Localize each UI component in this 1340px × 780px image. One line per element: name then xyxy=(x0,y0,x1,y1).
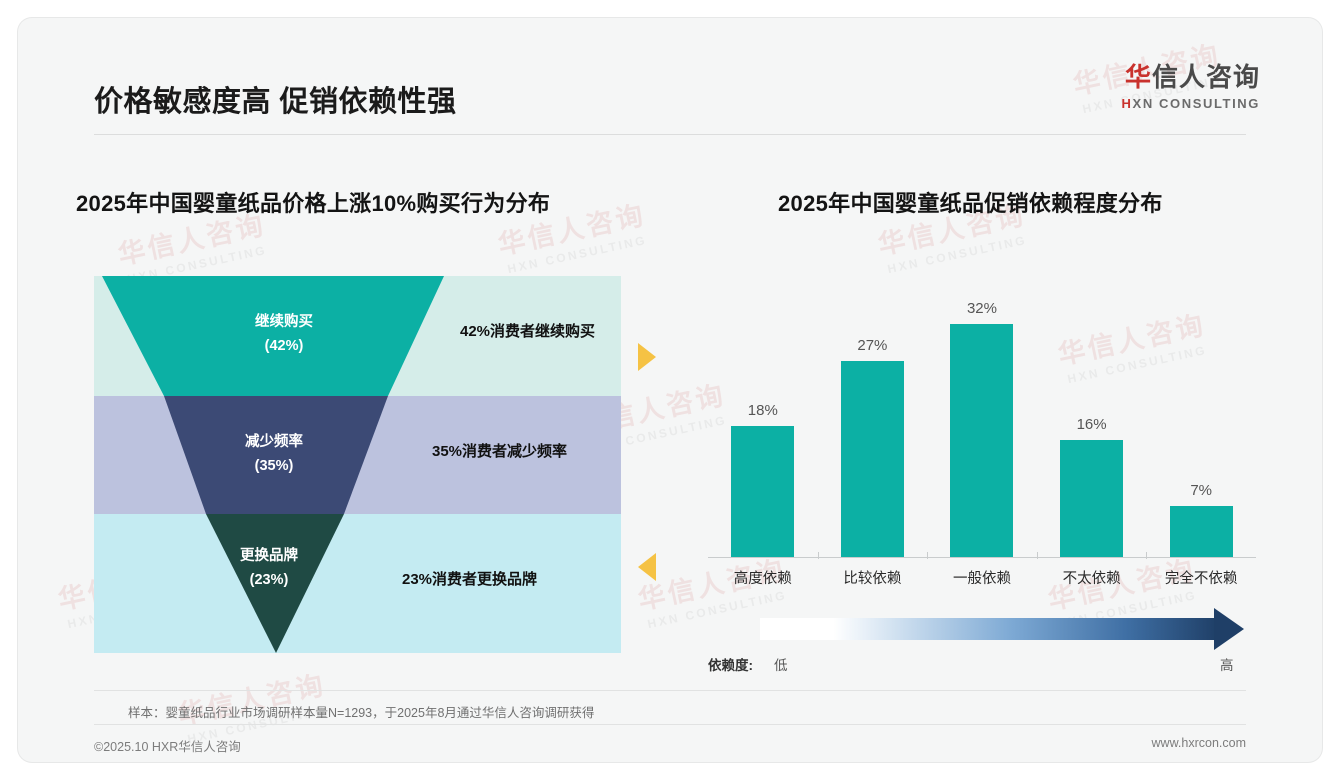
bar-item: 27% xyxy=(818,337,928,557)
copyright-text: ©2025.10 HXR华信人咨询 xyxy=(94,736,241,755)
logo-en-accent: H xyxy=(1122,96,1133,111)
header-divider xyxy=(94,134,1246,135)
slide-header: 价格敏感度高 促销依赖性强 华信人咨询 HXN CONSULTING xyxy=(18,18,1322,122)
bar-value-label: 18% xyxy=(748,402,778,419)
sample-note: 样本：婴童纸品行业市场调研样本量N=1293，于2025年8月通过华信人咨询调研… xyxy=(128,702,594,721)
legend-high-label: 高 xyxy=(1220,654,1234,674)
brand-logo: 华信人咨询 HXN CONSULTING xyxy=(1122,64,1260,111)
x-axis-tick xyxy=(818,552,819,559)
bar-rect xyxy=(731,426,794,557)
x-axis-label: 高度依赖 xyxy=(708,567,818,588)
bar-value-label: 16% xyxy=(1077,416,1107,433)
footer-divider xyxy=(94,724,1246,725)
bar-rect xyxy=(1170,506,1233,557)
x-axis-line xyxy=(708,557,1256,558)
x-axis-label: 不太依赖 xyxy=(1037,567,1147,588)
funnel-segment-1 xyxy=(102,276,444,396)
x-axis-tick xyxy=(1037,552,1038,559)
bar-value-label: 7% xyxy=(1190,482,1212,499)
funnel-annotation-1: 42%消费者继续购买 xyxy=(460,320,595,341)
dependency-gradient-legend: 依赖度: 低 高 xyxy=(708,610,1268,674)
x-axis-tick xyxy=(927,552,928,559)
bar-rect xyxy=(841,361,904,557)
triangle-right-icon xyxy=(638,343,656,371)
watermark-en: HXN CONSULTING xyxy=(886,232,1032,276)
bar-value-label: 27% xyxy=(857,337,887,354)
logo-chinese: 华信人咨询 xyxy=(1122,64,1260,90)
x-axis-labels: 高度依赖 比较依赖 一般依赖 不太依赖 完全不依赖 xyxy=(708,567,1256,588)
funnel-segment-2 xyxy=(164,396,388,514)
bar-item: 7% xyxy=(1146,482,1256,557)
logo-cn-accent: 华 xyxy=(1125,62,1152,92)
logo-cn-rest: 信人咨询 xyxy=(1152,62,1260,92)
funnel-label-2-line1: 减少频率 xyxy=(245,432,303,450)
bar-value-label: 32% xyxy=(967,300,997,317)
x-axis-label: 完全不依赖 xyxy=(1146,567,1256,588)
watermark-cn: 华信人咨询 xyxy=(115,210,268,271)
bar-rect xyxy=(1060,440,1123,557)
triangle-left-icon xyxy=(638,553,656,581)
funnel-chart: 继续购买 (42%) 减少频率 (35%) 更换品牌 (23%) 42%消费者继… xyxy=(94,268,634,668)
funnel-label-1-line2: (42%) xyxy=(265,338,304,354)
funnel-label-3-line2: (23%) xyxy=(250,572,289,588)
x-axis-tick xyxy=(1146,552,1147,559)
funnel-label-3-line1: 更换品牌 xyxy=(240,546,298,564)
x-axis-label: 一般依赖 xyxy=(927,567,1037,588)
gradient-bar xyxy=(760,618,1218,640)
legend-title: 依赖度: xyxy=(708,654,753,674)
left-chart-title: 2025年中国婴童纸品价格上涨10%购买行为分布 xyxy=(76,186,550,218)
legend-low-label: 低 xyxy=(774,654,788,674)
right-chart-title: 2025年中国婴童纸品促销依赖程度分布 xyxy=(778,186,1163,218)
note-divider xyxy=(94,690,1246,691)
funnel-annotation-3: 23%消费者更换品牌 xyxy=(402,568,537,589)
arrow-right-icon xyxy=(1214,608,1244,650)
funnel-label-2-line2: (35%) xyxy=(255,458,294,474)
bar-rect xyxy=(950,324,1013,557)
watermark-cn: 华信人咨询 xyxy=(175,670,328,731)
logo-english: HXN CONSULTING xyxy=(1122,96,1260,111)
slide: 华信人咨询 HXN CONSULTING 华信人咨询 HXN CONSULTIN… xyxy=(18,18,1322,762)
bar-item: 16% xyxy=(1037,416,1147,557)
bar-item: 18% xyxy=(708,402,818,557)
funnel-label-1-line1: 继续购买 xyxy=(255,312,313,330)
website-link[interactable]: www.hxrcon.com xyxy=(1152,736,1246,750)
bar-chart: 18% 27% 32% 16% 7% xyxy=(708,276,1268,588)
logo-en-rest: XN CONSULTING xyxy=(1133,96,1260,111)
bar-series: 18% 27% 32% 16% 7% xyxy=(708,295,1256,557)
bar-item: 32% xyxy=(927,300,1037,557)
funnel-annotation-2: 35%消费者减少频率 xyxy=(432,440,567,461)
x-axis-label: 比较依赖 xyxy=(818,567,928,588)
page-title: 价格敏感度高 促销依赖性强 xyxy=(94,78,457,120)
